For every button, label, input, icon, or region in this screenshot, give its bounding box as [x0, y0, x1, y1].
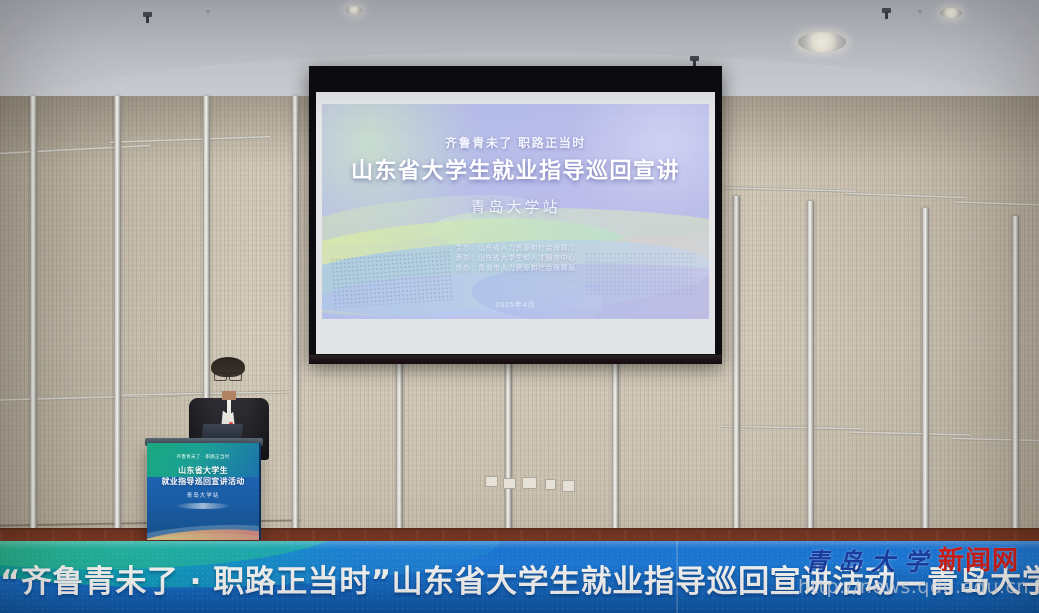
- sprinkler-icon: [882, 8, 891, 13]
- downlight-icon: [346, 6, 362, 14]
- lecture-hall-photo: 齐鲁青未了 职路正当时 山东省大学生就业指导巡回宣讲 青岛大学站 主办：山东省人…: [0, 0, 1039, 613]
- wall-trim-strip: [612, 336, 619, 541]
- glasses-icon: [214, 372, 242, 379]
- watermark: 青岛大学 新闻网 http://news.qdu.edu.cn: [790, 540, 1039, 613]
- wall-trim-strip: [733, 196, 740, 541]
- podium-wave-graphics: [147, 506, 259, 540]
- banner-panel-seam: [676, 541, 678, 613]
- podium-wave: [147, 521, 259, 540]
- downlight-icon: [940, 8, 962, 18]
- ceiling-fitting-icon: [918, 10, 922, 13]
- wall-trim-strip: [505, 336, 512, 541]
- wall-outlet[interactable]: [485, 476, 498, 487]
- wall-trim-strip: [396, 336, 403, 541]
- ceiling-fitting-icon: [206, 10, 210, 13]
- watermark-news-label: 新闻网: [938, 540, 1019, 577]
- podium-kicker: 齐鲁青未了 · 职路正当时: [147, 454, 259, 460]
- downlight-icon: [798, 32, 846, 52]
- wall-outlet[interactable]: [522, 477, 537, 489]
- slide-credits: 主办：山东省人力资源和社会保障厅 承办：山东省大学生和人才服务中心 协办：青岛市…: [322, 244, 709, 274]
- podium: 齐鲁青未了 · 职路正当时 山东省大学生 就业指导巡回宣讲活动 青岛大学站: [147, 443, 259, 540]
- wall-trim-strip: [807, 201, 814, 541]
- wall-trim-strip: [1012, 216, 1019, 541]
- sprinkler-icon: [143, 12, 152, 17]
- presentation-slide: 齐鲁青未了 职路正当时 山东省大学生就业指导巡回宣讲 青岛大学站 主办：山东省人…: [322, 104, 709, 319]
- slide-date: 2025年4月: [322, 300, 709, 310]
- slide-title: 山东省大学生就业指导巡回宣讲: [322, 153, 709, 185]
- wall-outlet[interactable]: [562, 480, 575, 492]
- slide-subtitle: 青岛大学站: [322, 196, 709, 217]
- watermark-url: http://news.qdu.edu.cn: [798, 576, 1029, 598]
- wall-trim-strip: [114, 96, 121, 541]
- wall-trim-strip: [922, 208, 929, 541]
- wall-trim-strip: [292, 96, 299, 541]
- projection-screen-bottom-bar: [309, 355, 722, 364]
- wall-trim-strip: [30, 96, 37, 541]
- watermark-university: 青岛大学: [805, 542, 937, 577]
- podium-subtitle: 青岛大学站: [147, 491, 259, 499]
- wall-outlet[interactable]: [545, 479, 556, 490]
- wall-outlet[interactable]: [503, 478, 516, 489]
- podium-title: 山东省大学生 就业指导巡回宣讲活动: [147, 465, 259, 487]
- sprinkler-icon: [690, 56, 699, 61]
- slide-kicker: 齐鲁青未了 职路正当时: [322, 134, 709, 151]
